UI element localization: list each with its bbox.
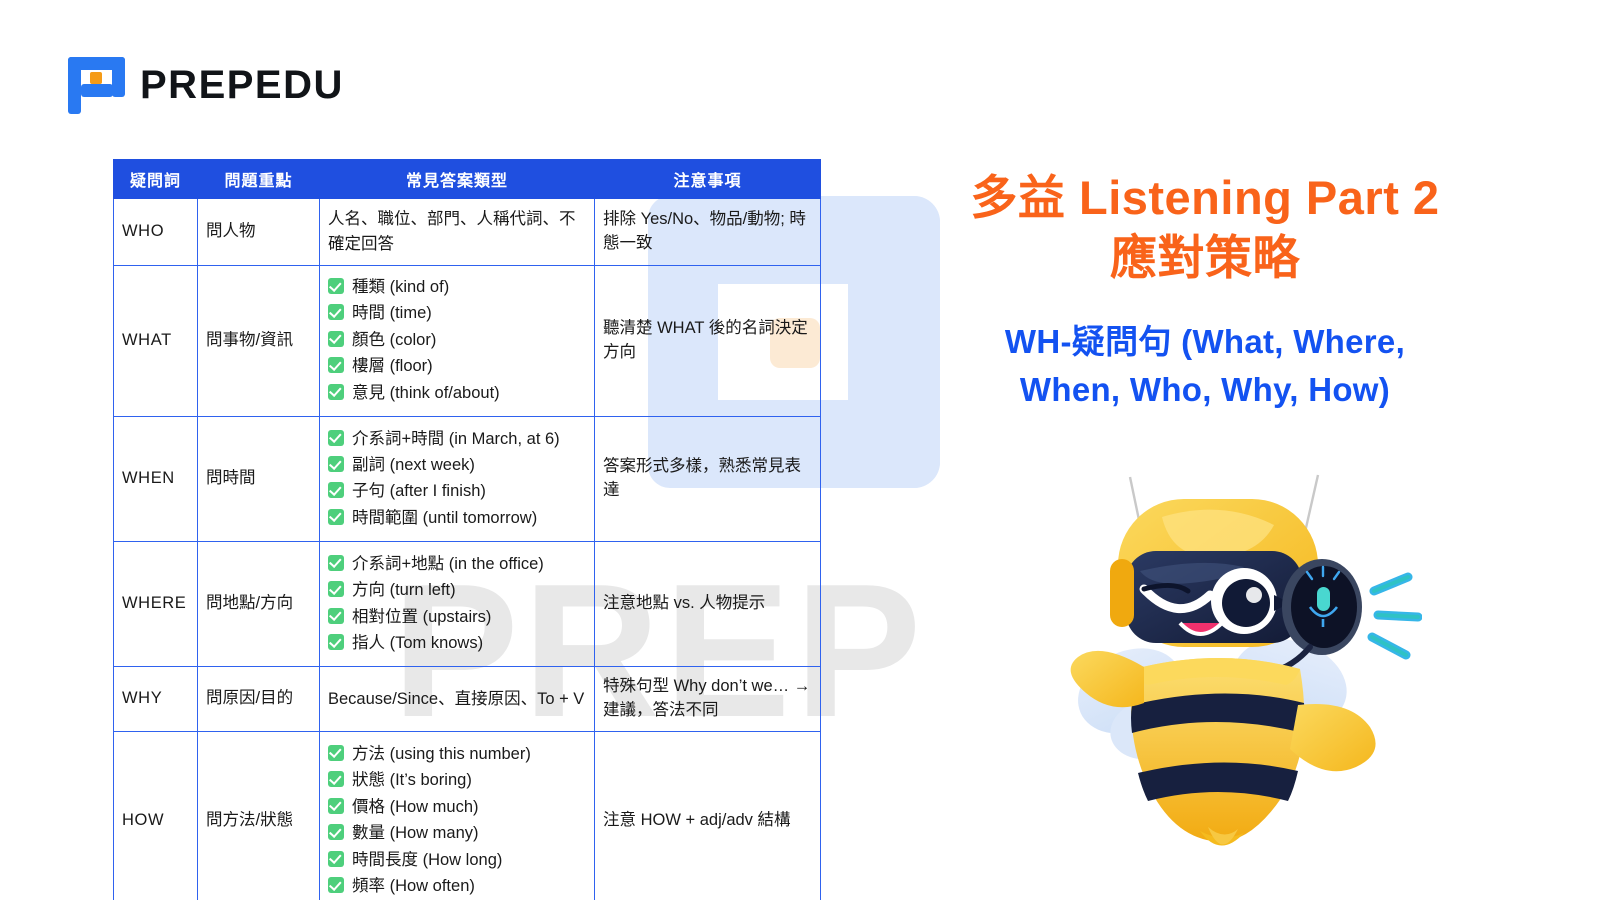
cell-caution: 聽清楚 WHAT 後的名詞決定方向 bbox=[595, 265, 821, 417]
answer-type-text: 人名、職位、部門、人稱代詞、不確定回答 bbox=[328, 207, 586, 257]
check-icon bbox=[328, 384, 344, 400]
list-item-label: 介系詞+時間 (in March, at 6) bbox=[352, 428, 560, 452]
list-item-label: 時間長度 (How long) bbox=[352, 849, 502, 873]
check-icon bbox=[328, 581, 344, 597]
cell-caution: 注意地點 vs. 人物提示 bbox=[595, 542, 821, 667]
check-icon bbox=[328, 278, 344, 294]
list-item-label: 意見 (think of/about) bbox=[352, 382, 500, 406]
cell-question-focus: 問人物 bbox=[198, 199, 320, 266]
prepedu-bracket-logo-icon bbox=[68, 57, 125, 114]
check-icon bbox=[328, 430, 344, 446]
check-icon bbox=[328, 851, 344, 867]
table-body: WHO問人物人名、職位、部門、人稱代詞、不確定回答排除 Yes/No、物品/動物… bbox=[114, 199, 821, 900]
table-row: HOW問方法/狀態方法 (using this number)狀態 (It’s … bbox=[114, 732, 821, 900]
cell-answer-types: 介系詞+時間 (in March, at 6)副詞 (next week)子句 … bbox=[320, 417, 595, 542]
list-item: 種類 (kind of) bbox=[328, 276, 586, 300]
list-item: 意見 (think of/about) bbox=[328, 382, 586, 406]
list-item: 方向 (turn left) bbox=[328, 579, 586, 603]
answer-type-list: 介系詞+地點 (in the office)方向 (turn left)相對位置… bbox=[328, 553, 586, 656]
cell-question-focus: 問時間 bbox=[198, 417, 320, 542]
answer-type-list: 種類 (kind of)時間 (time)顏色 (color)樓層 (floor… bbox=[328, 276, 586, 406]
cell-wh-word: WHEN bbox=[114, 417, 198, 542]
subtitle-line-2: When, Who, Why, How) bbox=[880, 366, 1530, 414]
list-item: 頻率 (How often) bbox=[328, 875, 586, 899]
cell-caution: 排除 Yes/No、物品/動物; 時態一致 bbox=[595, 199, 821, 266]
list-item: 時間範圍 (until tomorrow) bbox=[328, 507, 586, 531]
check-icon bbox=[328, 482, 344, 498]
list-item: 時間長度 (How long) bbox=[328, 849, 586, 873]
list-item-label: 頻率 (How often) bbox=[352, 875, 475, 899]
list-item-label: 介系詞+地點 (in the office) bbox=[352, 553, 544, 577]
table-row: WHAT問事物/資訊種類 (kind of)時間 (time)顏色 (color… bbox=[114, 265, 821, 417]
list-item-label: 副詞 (next week) bbox=[352, 454, 475, 478]
answer-type-text: Because/Since、直接原因、To + V bbox=[328, 687, 586, 712]
list-item: 介系詞+地點 (in the office) bbox=[328, 553, 586, 577]
list-item-label: 方向 (turn left) bbox=[352, 579, 456, 603]
cell-question-focus: 問地點/方向 bbox=[198, 542, 320, 667]
list-item: 指人 (Tom knows) bbox=[328, 632, 586, 656]
strategy-table-wrapper: 疑問詞 問題重點 常見答案類型 注意事項 WHO問人物人名、職位、部門、人稱代詞… bbox=[113, 159, 820, 900]
brand-logo: PREPEDU bbox=[68, 57, 344, 114]
cell-question-focus: 問事物/資訊 bbox=[198, 265, 320, 417]
list-item-label: 種類 (kind of) bbox=[352, 276, 449, 300]
list-item-label: 時間 (time) bbox=[352, 302, 432, 326]
check-icon bbox=[328, 745, 344, 761]
list-item: 子句 (after I finish) bbox=[328, 480, 586, 504]
cell-wh-word: HOW bbox=[114, 732, 198, 900]
column-header-cautions: 注意事項 bbox=[595, 160, 821, 199]
list-item: 時間 (time) bbox=[328, 302, 586, 326]
answer-type-list: 介系詞+時間 (in March, at 6)副詞 (next week)子句 … bbox=[328, 428, 586, 531]
brand-name: PREPEDU bbox=[140, 63, 344, 108]
right-text-panel: 多益 Listening Part 2 應對策略 WH-疑問句 (What, W… bbox=[880, 168, 1530, 414]
strategy-table: 疑問詞 問題重點 常見答案類型 注意事項 WHO問人物人名、職位、部門、人稱代詞… bbox=[113, 159, 821, 900]
main-title-line-2: 應對策略 bbox=[880, 228, 1530, 288]
poster-canvas: PREP PREPEDU 疑問詞 問題重點 常見答案類型 注意事項 WHO問人物… bbox=[0, 0, 1600, 900]
cell-caution: 特殊句型 Why don’t we… → 建議，答法不同 bbox=[595, 667, 821, 732]
table-row: WHO問人物人名、職位、部門、人稱代詞、不確定回答排除 Yes/No、物品/動物… bbox=[114, 199, 821, 266]
check-icon bbox=[328, 509, 344, 525]
cell-wh-word: WHERE bbox=[114, 542, 198, 667]
list-item: 狀態 (It’s boring) bbox=[328, 769, 586, 793]
table-row: WHEN問時間介系詞+時間 (in March, at 6)副詞 (next w… bbox=[114, 417, 821, 542]
list-item: 價格 (How much) bbox=[328, 796, 586, 820]
check-icon bbox=[328, 877, 344, 893]
check-icon bbox=[328, 608, 344, 624]
check-icon bbox=[328, 357, 344, 373]
cell-wh-word: WHO bbox=[114, 199, 198, 266]
check-icon bbox=[328, 798, 344, 814]
check-icon bbox=[328, 331, 344, 347]
list-item-label: 方法 (using this number) bbox=[352, 743, 531, 767]
cell-wh-word: WHAT bbox=[114, 265, 198, 417]
list-item-label: 時間範圍 (until tomorrow) bbox=[352, 507, 537, 531]
check-icon bbox=[328, 555, 344, 571]
table-row: WHY問原因/目的Because/Since、直接原因、To + V特殊句型 W… bbox=[114, 667, 821, 732]
main-title: 多益 Listening Part 2 應對策略 bbox=[880, 168, 1530, 288]
column-header-wh-word: 疑問詞 bbox=[114, 160, 198, 199]
prepedu-robot-bee-icon bbox=[1022, 455, 1422, 855]
cell-answer-types: 介系詞+地點 (in the office)方向 (turn left)相對位置… bbox=[320, 542, 595, 667]
list-item-label: 樓層 (floor) bbox=[352, 355, 433, 379]
list-item-label: 狀態 (It’s boring) bbox=[352, 769, 472, 793]
cell-caution: 注意 HOW + adj/adv 結構 bbox=[595, 732, 821, 900]
table-header-row: 疑問詞 問題重點 常見答案類型 注意事項 bbox=[114, 160, 821, 199]
main-title-line-1: 多益 Listening Part 2 bbox=[880, 168, 1530, 228]
cell-caution: 答案形式多樣，熟悉常見表達 bbox=[595, 417, 821, 542]
list-item: 顏色 (color) bbox=[328, 329, 586, 353]
list-item-label: 指人 (Tom knows) bbox=[352, 632, 483, 656]
table-row: WHERE問地點/方向介系詞+地點 (in the office)方向 (tur… bbox=[114, 542, 821, 667]
cell-question-focus: 問原因/目的 bbox=[198, 667, 320, 732]
cell-answer-types: Because/Since、直接原因、To + V bbox=[320, 667, 595, 732]
cell-answer-types: 人名、職位、部門、人稱代詞、不確定回答 bbox=[320, 199, 595, 266]
check-icon bbox=[328, 456, 344, 472]
column-header-question-focus: 問題重點 bbox=[198, 160, 320, 199]
cell-question-focus: 問方法/狀態 bbox=[198, 732, 320, 900]
list-item: 副詞 (next week) bbox=[328, 454, 586, 478]
list-item: 相對位置 (upstairs) bbox=[328, 606, 586, 630]
subtitle: WH-疑問句 (What, Where, When, Who, Why, How… bbox=[880, 318, 1530, 414]
cell-answer-types: 種類 (kind of)時間 (time)顏色 (color)樓層 (floor… bbox=[320, 265, 595, 417]
list-item: 介系詞+時間 (in March, at 6) bbox=[328, 428, 586, 452]
answer-type-list: 方法 (using this number)狀態 (It’s boring)價格… bbox=[328, 743, 586, 899]
check-icon bbox=[328, 771, 344, 787]
list-item-label: 數量 (How many) bbox=[352, 822, 479, 846]
list-item: 數量 (How many) bbox=[328, 822, 586, 846]
cell-answer-types: 方法 (using this number)狀態 (It’s boring)價格… bbox=[320, 732, 595, 900]
list-item-label: 價格 (How much) bbox=[352, 796, 479, 820]
column-header-answer-types: 常見答案類型 bbox=[320, 160, 595, 199]
check-icon bbox=[328, 824, 344, 840]
subtitle-line-1: WH-疑問句 (What, Where, bbox=[880, 318, 1530, 366]
check-icon bbox=[328, 304, 344, 320]
list-item-label: 顏色 (color) bbox=[352, 329, 436, 353]
list-item-label: 相對位置 (upstairs) bbox=[352, 606, 491, 630]
list-item: 方法 (using this number) bbox=[328, 743, 586, 767]
check-icon bbox=[328, 634, 344, 650]
cell-wh-word: WHY bbox=[114, 667, 198, 732]
list-item-label: 子句 (after I finish) bbox=[352, 480, 486, 504]
list-item: 樓層 (floor) bbox=[328, 355, 586, 379]
